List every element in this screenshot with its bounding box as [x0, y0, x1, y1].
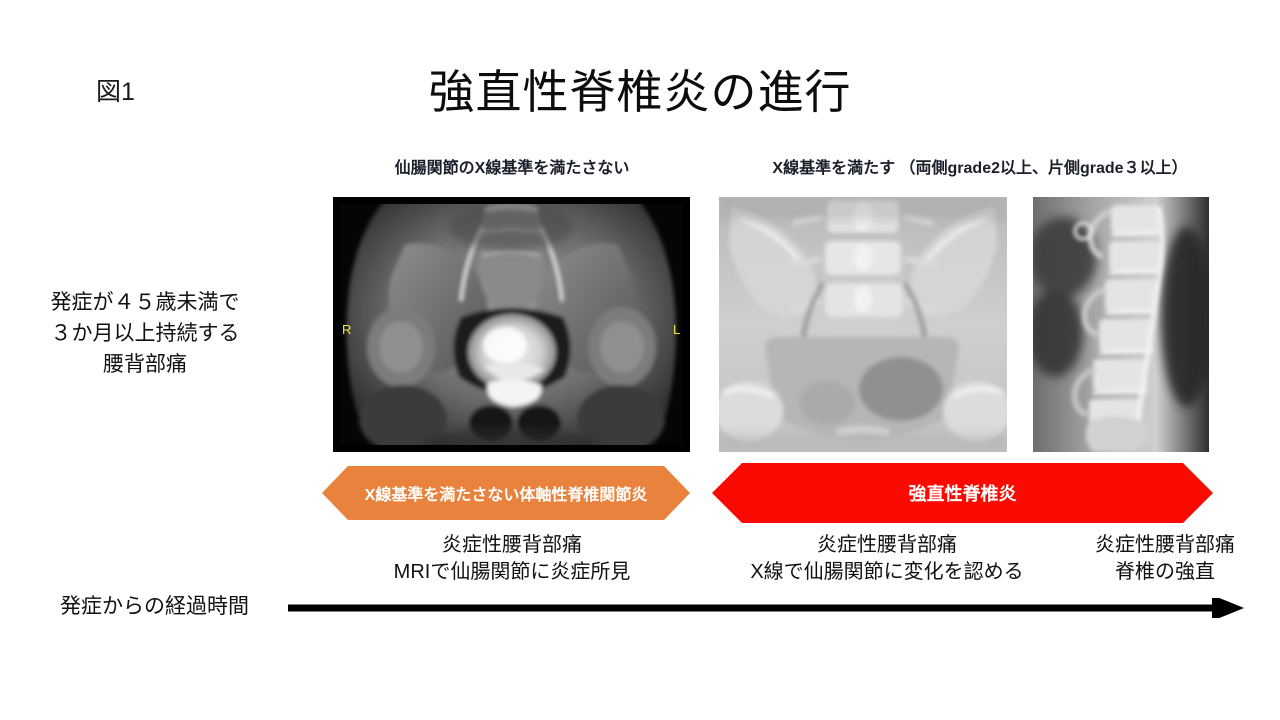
xray-lateral-graphic	[1033, 197, 1209, 452]
criteria-line-3: 腰背部痛	[14, 349, 276, 380]
caption-ankylosis-line-2: 脊椎の強直	[1050, 559, 1280, 586]
banner-ankylosing-spondylitis-label: 強直性脊椎炎	[909, 480, 1017, 506]
mri-left-marker: L	[673, 322, 680, 337]
page-title: 強直性脊椎炎の進行	[0, 62, 1280, 122]
timeline-label: 発症からの経過時間	[60, 593, 249, 621]
caption-ankylosis-line-1: 炎症性腰背部痛	[1050, 532, 1280, 559]
caption-nr-axspa-line-1: 炎症性腰背部痛	[333, 532, 691, 559]
caption-nr-axspa: 炎症性腰背部痛 MRIで仙腸関節に炎症所見	[333, 532, 691, 586]
caption-as-line-2: X線で仙腸関節に変化を認める	[712, 559, 1062, 586]
entry-criteria-text: 発症が４５歳未満で ３か月以上持続する 腰背部痛	[14, 287, 276, 380]
arrow-right-icon	[288, 598, 1244, 618]
caption-as-line-1: 炎症性腰背部痛	[712, 532, 1062, 559]
caption-ankylosis: 炎症性腰背部痛 脊椎の強直	[1050, 532, 1280, 586]
xray-pelvis-ap-image	[719, 197, 1007, 452]
banner-ankylosing-spondylitis: 強直性脊椎炎	[712, 463, 1213, 523]
caption-as: 炎症性腰背部痛 X線で仙腸関節に変化を認める	[712, 532, 1062, 586]
banner-nr-axspa-label: X線基準を満たさない体軸性脊椎関節炎	[365, 481, 648, 505]
timeline-axis-arrow	[288, 598, 1244, 618]
column-header-right: X線基準を満たす （両側grade2以上、片側grade３以上）	[700, 158, 1260, 180]
criteria-line-2: ３か月以上持続する	[14, 318, 276, 349]
caption-nr-axspa-line-2: MRIで仙腸関節に炎症所見	[333, 559, 691, 586]
mri-sacroiliac-image: R L	[333, 197, 690, 452]
slide-canvas: 図1 強直性脊椎炎の進行 仙腸関節のX線基準を満たさない X線基準を満たす （両…	[0, 0, 1280, 720]
xray-lumbar-lateral-image	[1033, 197, 1209, 452]
criteria-line-1: 発症が４５歳未満で	[14, 287, 276, 318]
mri-right-marker: R	[342, 322, 351, 337]
column-header-left: 仙腸関節のX線基準を満たさない	[333, 158, 691, 180]
banner-nr-axspa: X線基準を満たさない体軸性脊椎関節炎	[322, 466, 690, 520]
mri-graphic	[333, 197, 690, 452]
xray-ap-graphic	[719, 197, 1007, 452]
